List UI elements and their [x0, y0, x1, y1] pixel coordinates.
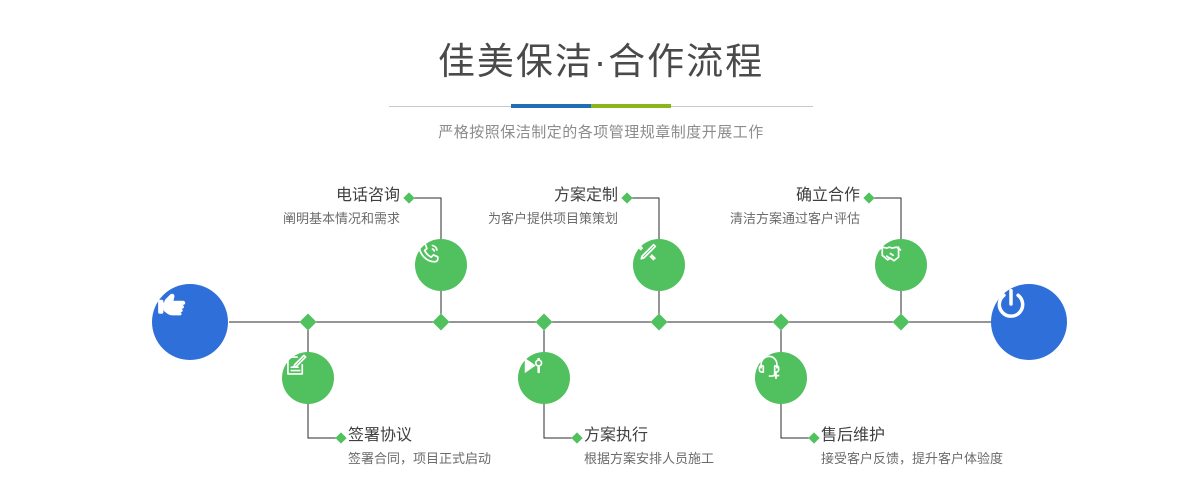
- step-label-6: 售后维护 接受客户反馈，提升客户体验度: [821, 426, 1161, 468]
- page-header: 佳美保洁·合作流程 严格按照保洁制定的各项管理规章制度开展工作: [0, 0, 1202, 142]
- step-node-3[interactable]: [633, 239, 685, 291]
- start-node[interactable]: [152, 284, 228, 360]
- step-node-4[interactable]: [518, 352, 570, 404]
- title-divider: [389, 104, 813, 108]
- page-title: 佳美保洁·合作流程: [0, 43, 1202, 80]
- step-node-1[interactable]: [415, 239, 467, 291]
- spine-diamond-6: [773, 314, 790, 331]
- spine-diamond-5: [893, 314, 910, 331]
- label-diamond-5: [863, 192, 874, 203]
- label-diamond-2: [335, 432, 346, 443]
- step-title-5: 确立合作: [540, 186, 860, 206]
- spine-diamond-1: [433, 314, 450, 331]
- flowchart-page: 佳美保洁·合作流程 严格按照保洁制定的各项管理规章制度开展工作: [0, 0, 1202, 502]
- spine-diamond-4: [536, 314, 553, 331]
- step-label-5: 确立合作 清洁方案通过客户评估: [540, 186, 860, 228]
- divider-blue-segment: [511, 104, 591, 108]
- step-node-2[interactable]: [282, 352, 334, 404]
- step-title-6: 售后维护: [821, 426, 1161, 446]
- step-node-6[interactable]: [755, 352, 807, 404]
- step-desc-5: 清洁方案通过客户评估: [540, 210, 860, 228]
- spine-diamond-2: [300, 314, 317, 331]
- label-markers: [335, 192, 874, 443]
- process-timeline: 电话咨询 阐明基本情况和需求 方案定制 为客户提供项目策策划: [0, 150, 1202, 502]
- spine-diamond-3: [651, 314, 668, 331]
- step-desc-6: 接受客户反馈，提升客户体验度: [821, 450, 1161, 468]
- page-subtitle: 严格按照保洁制定的各项管理规章制度开展工作: [0, 121, 1202, 142]
- divider-green-segment: [591, 104, 671, 108]
- step-node-5[interactable]: [875, 239, 927, 291]
- end-node[interactable]: [991, 284, 1067, 360]
